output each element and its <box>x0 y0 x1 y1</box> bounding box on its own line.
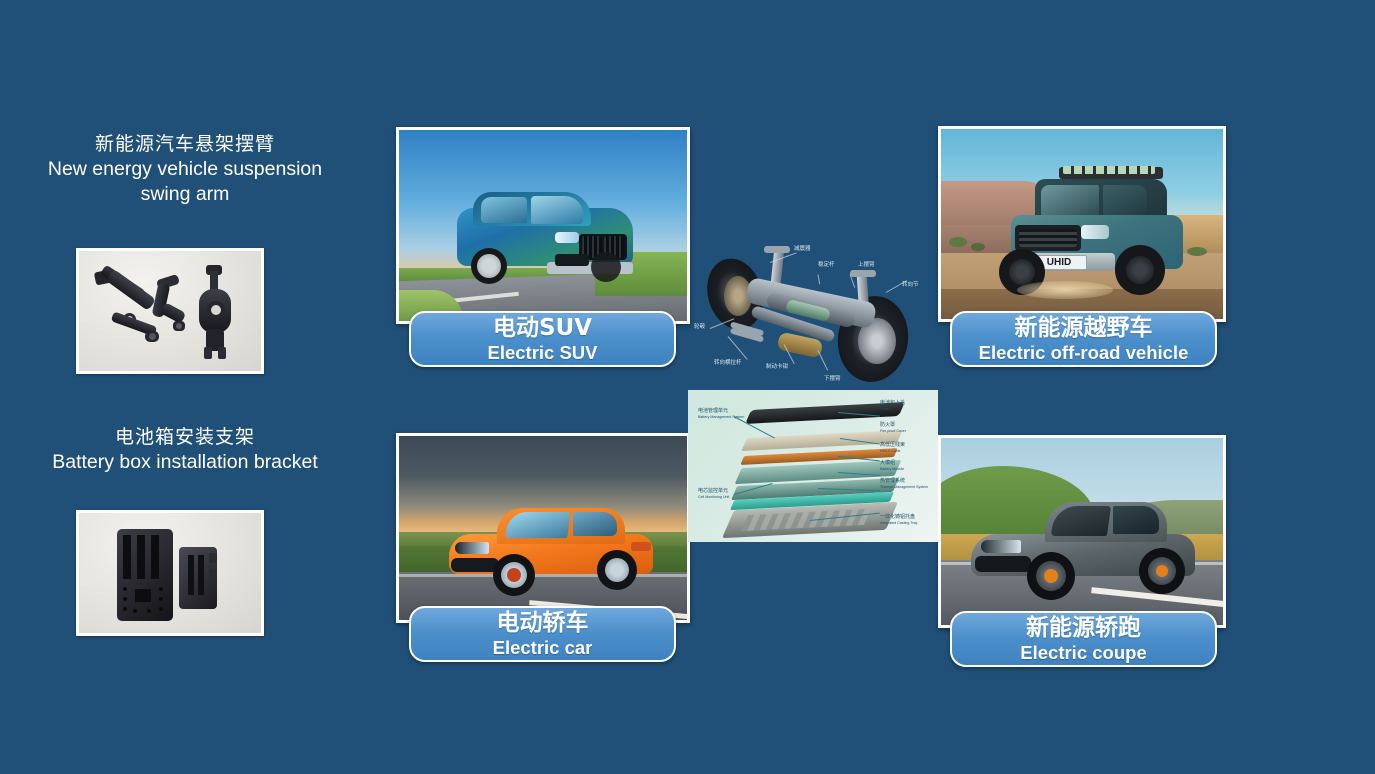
control-arm-middle <box>153 277 187 339</box>
product-title-en-line1: Battery box installation bracket <box>0 450 370 475</box>
battery-label-bms-cn: 电池管理单元 <box>698 408 728 414</box>
product-block-battery-bracket: 电池箱安装支架 Battery box installation bracket <box>0 425 370 475</box>
electric-car-vehicle <box>445 492 659 600</box>
suspension-label-brake-caliper: 制动卡钳 <box>766 364 788 371</box>
card-image-offroad: UHID <box>941 129 1223 319</box>
offroad-vehicle: UHID <box>975 163 1195 303</box>
battery-label-fireproof-en: Fire proof Cover <box>880 429 906 434</box>
caption-cn: 电动SUV <box>411 315 674 342</box>
battery-label-module-cn: 大模组 <box>880 460 895 466</box>
card-image-coupe <box>941 438 1223 625</box>
caption-en: Electric coupe <box>952 642 1215 664</box>
battery-label-casting-tray-en: Integrated Casting Tray <box>880 521 917 526</box>
coupe-vehicle <box>965 482 1201 600</box>
battery-label-casting-tray-cn: 一体化铸铝托盘 <box>880 514 915 520</box>
caption-cn: 电动轿车 <box>411 610 674 637</box>
photo-canvas <box>79 251 261 371</box>
suspension-label-lower-arm: 下摆臂 <box>824 376 841 383</box>
battery-label-fireproof-cn: 防火罩 <box>880 422 895 428</box>
bracket-small <box>179 547 217 609</box>
battery-label-module-en: Battery Module <box>880 467 904 472</box>
product-title-en-line1: New energy vehicle suspension <box>0 157 370 182</box>
battery-label-cmu-cn: 电芯监控单元 <box>698 488 728 494</box>
battery-label-cover-en: Cover <box>880 407 890 412</box>
suspension-label-steering-knuckle: 转向节 <box>902 282 919 289</box>
photo-canvas <box>79 513 261 633</box>
battery-label-hvlv-cable-en: HV/LV Cable <box>880 449 901 454</box>
battery-label-thermal-en: Thermal Management System <box>880 485 928 490</box>
caption-electric-coupe: 新能源轿跑 Electric coupe <box>950 611 1217 667</box>
caption-cn: 新能源轿跑 <box>952 615 1215 642</box>
slide-canvas: 新能源汽车悬架摆臂 New energy vehicle suspension … <box>0 0 1375 774</box>
card-image-electric-car <box>399 436 687 620</box>
suspension-label-shock-absorber: 减震器 <box>794 246 811 253</box>
product-title-cn: 电池箱安装支架 <box>0 425 370 450</box>
card-electric-coupe[interactable] <box>938 435 1226 628</box>
battery-label-cover-cn: 电池包上盖 <box>880 400 905 406</box>
bracket-large <box>117 529 173 621</box>
suspension-label-tie-rod: 转向横拉杆 <box>714 360 742 367</box>
caption-en: Electric SUV <box>411 342 674 364</box>
suspension-assembly-diagram: 减震器 稳定杆 上摆臂 转向节 轮毂 转向横拉杆 制动卡钳 下摆臂 <box>690 232 938 390</box>
card-image-electric-suv <box>399 130 687 321</box>
suspension-label-hub: 轮毂 <box>694 324 705 331</box>
control-arm-right <box>193 265 239 363</box>
product-title-cn: 新能源汽车悬架摆臂 <box>0 132 370 157</box>
caption-electric-car: 电动轿车 Electric car <box>409 606 676 662</box>
card-electric-offroad-vehicle[interactable]: UHID <box>938 126 1226 322</box>
suv-vehicle <box>451 182 641 292</box>
card-electric-suv[interactable] <box>396 127 690 324</box>
battery-label-hvlv-cable-cn: 高低压线束 <box>880 442 905 448</box>
caption-en: Electric car <box>411 637 674 659</box>
caption-cn: 新能源越野车 <box>952 315 1215 342</box>
product-title-en-line2: swing arm <box>0 182 370 207</box>
suspension-swing-arm-photo <box>76 248 264 374</box>
product-block-swing-arm: 新能源汽车悬架摆臂 New energy vehicle suspension … <box>0 132 370 207</box>
caption-en: Electric off-road vehicle <box>952 342 1215 364</box>
caption-electric-offroad-vehicle: 新能源越野车 Electric off-road vehicle <box>950 311 1217 367</box>
card-electric-car[interactable] <box>396 433 690 623</box>
suspension-label-upper-arm: 上摆臂 <box>858 262 875 269</box>
battery-label-thermal-cn: 热管理系统 <box>880 478 905 484</box>
battery-pack-exploded-diagram: 电池包上盖 Cover 防火罩 Fire proof Cover 高低压线束 H… <box>688 390 938 542</box>
battery-label-cmu-en: Cell Monitoring Unit <box>698 495 729 500</box>
caption-electric-suv: 电动SUV Electric SUV <box>409 311 676 367</box>
battery-box-bracket-photo <box>76 510 264 636</box>
suspension-label-stabilizer-bar: 稳定杆 <box>818 262 835 269</box>
battery-label-bms-en: Battery Management System <box>698 415 744 420</box>
